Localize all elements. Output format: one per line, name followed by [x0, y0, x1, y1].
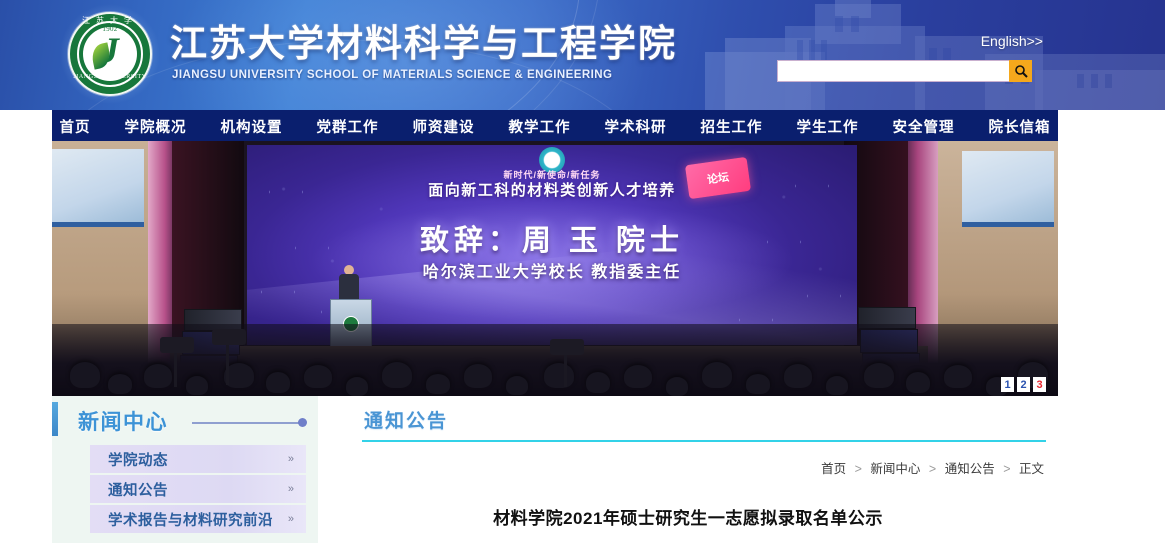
audience-silhouettes — [52, 324, 1058, 396]
logo-monogram: J — [68, 32, 152, 68]
sidebar-menu[interactable]: 学院动态 » 通知公告 » 学术报告与材料研究前沿 » — [90, 445, 306, 535]
tripod-leg — [174, 353, 177, 387]
sidebar-title: 新闻中心 — [78, 406, 168, 436]
breadcrumb-item-3: 正文 — [1019, 462, 1044, 476]
main-navigation[interactable]: 首页 学院概况 机构设置 党群工作 师资建设 教学工作 学术科研 招生工作 学生… — [52, 110, 1058, 143]
screen-headline: 面向新工科的材料类创新人才培养 — [247, 179, 857, 200]
nav-item-4[interactable]: 师资建设 — [396, 116, 492, 137]
tripod-leg — [564, 355, 567, 387]
sidebar-accent-bar — [52, 402, 58, 436]
carousel-pagination[interactable]: 1 2 3 — [1001, 377, 1046, 392]
page-title: 通知公告 — [364, 406, 448, 433]
nav-item-1[interactable]: 学院概况 — [108, 116, 204, 137]
content-area: 新闻中心 学院动态 » 通知公告 » 学术报告与材料研究前沿 » 通知公告 首页 — [52, 396, 1058, 543]
carousel-dot-2[interactable]: 2 — [1017, 377, 1030, 392]
nav-item-8[interactable]: 学生工作 — [780, 116, 876, 137]
nav-item-2[interactable]: 机构设置 — [204, 116, 300, 137]
sidebar-header: 新闻中心 — [52, 396, 318, 442]
breadcrumb-item-1[interactable]: 新闻中心 — [870, 462, 920, 476]
carousel-dot-3[interactable]: 3 — [1033, 377, 1046, 392]
search-icon — [1014, 64, 1028, 78]
sidebar-item-lectures[interactable]: 学术报告与材料研究前沿 » — [90, 505, 306, 535]
video-camera-center — [550, 339, 584, 355]
english-link[interactable]: English>> — [981, 33, 1043, 49]
breadcrumb-item-0[interactable]: 首页 — [821, 462, 846, 476]
breadcrumb-separator: > — [1003, 462, 1010, 476]
sidebar-item-label: 学术报告与材料研究前沿 — [108, 509, 273, 530]
nav-item-9[interactable]: 安全管理 — [876, 116, 972, 137]
tripod-leg — [226, 345, 229, 385]
video-camera-left-2 — [212, 329, 246, 345]
nav-item-0[interactable]: 首页 — [43, 116, 108, 137]
side-projection-left — [52, 149, 144, 227]
search-button[interactable] — [1009, 60, 1032, 82]
chevron-right-icon: » — [288, 453, 292, 465]
site-header: 江苏大学 1902 J JIANGSU UNIVERSITY 江苏大学材料科学与… — [0, 0, 1165, 110]
nav-item-10[interactable]: 院长信箱 — [972, 116, 1068, 137]
breadcrumb-separator: > — [929, 462, 936, 476]
breadcrumb[interactable]: 首页 > 新闻中心 > 通知公告 > 正文 — [821, 458, 1044, 477]
search-box[interactable] — [777, 60, 1032, 82]
nav-item-7[interactable]: 招生工作 — [684, 116, 780, 137]
carousel-dot-1[interactable]: 1 — [1001, 377, 1014, 392]
left-sidebar: 新闻中心 学院动态 » 通知公告 » 学术报告与材料研究前沿 » — [52, 396, 318, 543]
hero-carousel[interactable]: 新时代/新使命/新任务 面向新工科的材料类创新人才培养 论坛 致辞：周 玉 院士… — [52, 141, 1058, 396]
university-logo[interactable]: 江苏大学 1902 J JIANGSU UNIVERSITY — [68, 12, 152, 96]
main-panel: 通知公告 首页 > 新闻中心 > 通知公告 > 正文 材料学院2021年硕士研究… — [318, 396, 1058, 543]
breadcrumb-separator: > — [855, 462, 862, 476]
nav-item-6[interactable]: 学术科研 — [588, 116, 684, 137]
chevron-right-icon: » — [288, 513, 292, 525]
chevron-right-icon: » — [288, 483, 292, 495]
site-title: 江苏大学材料科学与工程学院 — [170, 22, 677, 66]
search-input[interactable] — [777, 60, 1009, 82]
sidebar-rule-dot-icon — [298, 418, 307, 427]
breadcrumb-item-2[interactable]: 通知公告 — [945, 462, 995, 476]
header-building-photo — [685, 0, 1165, 110]
logo-arc-text: JIANGSU UNIVERSITY — [68, 74, 152, 80]
nav-item-3[interactable]: 党群工作 — [300, 116, 396, 137]
nav-item-5[interactable]: 教学工作 — [492, 116, 588, 137]
main-panel-header: 通知公告 — [346, 396, 1058, 440]
side-projection-right — [962, 151, 1054, 227]
sidebar-item-notices[interactable]: 通知公告 » — [90, 475, 306, 505]
screen-speaker-line: 致辞：周 玉 院士 — [247, 217, 857, 259]
sidebar-item-label: 学院动态 — [108, 449, 168, 470]
video-camera-left — [160, 337, 194, 353]
sidebar-item-label: 通知公告 — [108, 479, 168, 500]
sidebar-item-news[interactable]: 学院动态 » — [90, 445, 306, 475]
page-title-rule — [362, 440, 1046, 442]
site-subtitle: JIANGSU UNIVERSITY SCHOOL OF MATERIALS S… — [172, 69, 612, 81]
article-title: 材料学院2021年硕士研究生一志愿拟录取名单公示 — [318, 504, 1058, 529]
sidebar-rule — [192, 422, 302, 424]
